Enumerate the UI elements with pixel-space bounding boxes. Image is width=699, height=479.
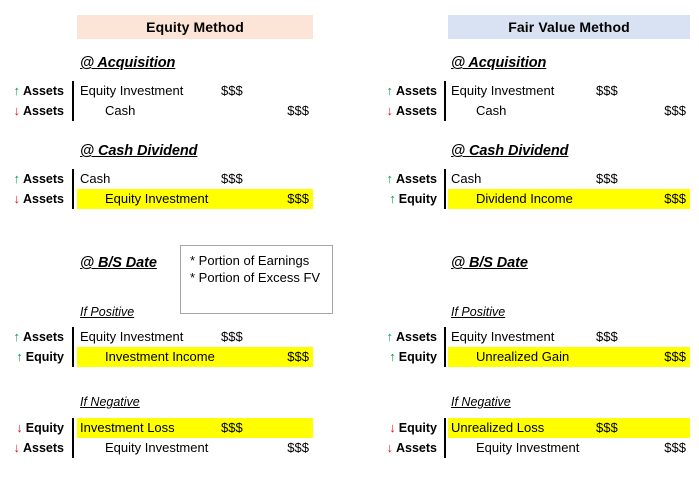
account-name: Investment Loss xyxy=(80,418,175,438)
entry-block-acquisition: ↑Assets Equity Investment $$$ ↓Assets Ca… xyxy=(0,81,349,121)
account-name: Equity Investment xyxy=(451,81,554,101)
entry-row: ↑Assets Equity Investment $$$ xyxy=(0,81,349,101)
arrow-up-icon: ↑ xyxy=(14,81,21,101)
side-label-text: Assets xyxy=(396,84,437,98)
entry-row: ↑Assets Equity Investment $$$ xyxy=(350,327,699,347)
side-label-text: Assets xyxy=(396,330,437,344)
entry-row: ↑Equity Dividend Income $$$ xyxy=(350,189,699,209)
arrow-up-icon: ↑ xyxy=(389,347,396,367)
side-label: ↓Assets xyxy=(0,438,68,458)
amount-credit: $$$ xyxy=(287,438,309,458)
entry-line: Equity Investment $$$ xyxy=(77,81,313,101)
amount-debit: $$$ xyxy=(596,81,618,101)
side-label-text: Assets xyxy=(23,330,64,344)
side-label: ↑Assets xyxy=(372,169,441,189)
column-equity-method: Equity Method @ Acquisition ↑Assets Equi… xyxy=(0,0,349,479)
arrow-up-icon: ↑ xyxy=(16,347,23,367)
entry-line: Equity Investment $$$ xyxy=(448,327,690,347)
side-label-text: Assets xyxy=(396,104,437,118)
equity-method-note-box: * Portion of Earnings * Portion of Exces… xyxy=(180,245,333,314)
entry-divider xyxy=(444,101,446,121)
side-label-text: Assets xyxy=(23,172,64,186)
entry-row: ↓Equity Unrealized Loss $$$ xyxy=(350,418,699,438)
arrow-down-icon: ↓ xyxy=(14,438,21,458)
arrow-down-icon: ↓ xyxy=(387,101,394,121)
side-label: ↑Assets xyxy=(372,81,441,101)
side-label: ↑Assets xyxy=(372,327,441,347)
entry-divider xyxy=(72,101,74,121)
entry-divider xyxy=(444,438,446,458)
account-name: Unrealized Loss xyxy=(451,418,544,438)
arrow-up-icon: ↑ xyxy=(387,81,394,101)
note-line: * Portion of Excess FV xyxy=(190,269,323,286)
amount-credit: $$$ xyxy=(287,189,309,209)
amount-credit: $$$ xyxy=(287,347,309,367)
arrow-up-icon: ↑ xyxy=(387,169,394,189)
arrow-down-icon: ↓ xyxy=(16,418,23,438)
amount-credit: $$$ xyxy=(287,101,309,121)
side-label-text: Assets xyxy=(396,441,437,455)
amount-debit: $$$ xyxy=(596,169,618,189)
account-name: Equity Investment xyxy=(105,438,208,458)
note-line: * Portion of Earnings xyxy=(190,252,323,269)
side-label-text: Assets xyxy=(23,441,64,455)
entry-divider xyxy=(72,418,74,438)
entry-block-bs-positive: ↑Assets Equity Investment $$$ ↑Equity In… xyxy=(0,327,349,367)
side-label: ↓Equity xyxy=(372,418,441,438)
entry-row: ↓Assets Cash $$$ xyxy=(350,101,699,121)
subheading-if-positive: If Positive xyxy=(80,305,134,319)
entry-block-bs-negative: ↓Equity Investment Loss $$$ ↓Assets Equi… xyxy=(0,418,349,458)
side-label: ↑Assets xyxy=(0,327,68,347)
entry-block-cash-dividend: ↑Assets Cash $$$ ↑Equity Dividend Income… xyxy=(350,169,699,209)
section-heading-cash-dividend: @ Cash Dividend xyxy=(80,143,197,159)
entry-block-bs-positive: ↑Assets Equity Investment $$$ ↑Equity Un… xyxy=(350,327,699,367)
entry-divider xyxy=(444,347,446,367)
arrow-down-icon: ↓ xyxy=(14,101,21,121)
entry-block-bs-negative: ↓Equity Unrealized Loss $$$ ↓Assets Equi… xyxy=(350,418,699,458)
entry-line: Equity Investment $$$ xyxy=(448,81,690,101)
account-name: Cash xyxy=(476,101,506,121)
amount-credit: $$$ xyxy=(664,101,686,121)
entry-line-highlighted: Unrealized Loss $$$ xyxy=(448,418,690,438)
amount-debit: $$$ xyxy=(221,327,243,347)
entry-row: ↓Assets Equity Investment $$$ xyxy=(0,438,349,458)
entry-divider xyxy=(444,418,446,438)
amount-credit: $$$ xyxy=(664,347,686,367)
side-label: ↓Assets xyxy=(0,189,68,209)
side-label: ↓Assets xyxy=(0,101,68,121)
entry-line-highlighted: Investment Loss $$$ xyxy=(77,418,313,438)
entry-divider xyxy=(444,327,446,347)
entry-line: Equity Investment $$$ xyxy=(77,438,313,458)
side-label: ↑Assets xyxy=(0,169,68,189)
arrow-up-icon: ↑ xyxy=(387,327,394,347)
arrow-up-icon: ↑ xyxy=(14,327,21,347)
side-label: ↓Equity xyxy=(0,418,68,438)
entry-row: ↑Assets Cash $$$ xyxy=(0,169,349,189)
account-name: Cash xyxy=(451,169,481,189)
side-label: ↑Equity xyxy=(0,347,68,367)
entry-line-highlighted: Dividend Income $$$ xyxy=(448,189,690,209)
account-name: Equity Investment xyxy=(80,327,183,347)
entry-row: ↑Equity Unrealized Gain $$$ xyxy=(350,347,699,367)
entry-divider xyxy=(72,327,74,347)
equity-method-header: Equity Method xyxy=(77,15,313,39)
side-label-text: Equity xyxy=(399,350,437,364)
arrow-up-icon: ↑ xyxy=(14,169,21,189)
account-name: Equity Investment xyxy=(476,438,579,458)
accounting-comparison-diagram: Equity Method @ Acquisition ↑Assets Equi… xyxy=(0,0,699,479)
account-name: Cash xyxy=(80,169,110,189)
account-name: Cash xyxy=(105,101,135,121)
section-heading-acquisition: @ Acquisition xyxy=(451,55,546,71)
entry-divider xyxy=(72,169,74,189)
entry-divider xyxy=(72,189,74,209)
entry-divider xyxy=(444,81,446,101)
entry-divider xyxy=(444,189,446,209)
column-fair-value-method: Fair Value Method @ Acquisition ↑Assets … xyxy=(350,0,699,479)
section-heading-cash-dividend: @ Cash Dividend xyxy=(451,143,568,159)
side-label: ↑Equity xyxy=(372,189,441,209)
entry-line: Cash $$$ xyxy=(77,101,313,121)
side-label-text: Assets xyxy=(396,172,437,186)
entry-line-highlighted: Investment Income $$$ xyxy=(77,347,313,367)
amount-debit: $$$ xyxy=(221,81,243,101)
side-label: ↓Assets xyxy=(372,101,441,121)
entry-row: ↓Assets Cash $$$ xyxy=(0,101,349,121)
entry-row: ↓Assets Equity Investment $$$ xyxy=(0,189,349,209)
entry-divider xyxy=(72,81,74,101)
account-name: Equity Investment xyxy=(80,81,183,101)
entry-line: Cash $$$ xyxy=(77,169,313,189)
arrow-down-icon: ↓ xyxy=(387,438,394,458)
section-heading-acquisition: @ Acquisition xyxy=(80,55,175,71)
entry-divider xyxy=(444,169,446,189)
amount-debit: $$$ xyxy=(221,169,243,189)
subheading-if-negative: If Negative xyxy=(80,395,140,409)
account-name: Unrealized Gain xyxy=(476,347,569,367)
side-label-text: Equity xyxy=(26,350,64,364)
section-heading-bs-date: @ B/S Date xyxy=(80,255,157,271)
entry-divider xyxy=(72,438,74,458)
fair-value-method-header: Fair Value Method xyxy=(448,15,690,39)
entry-line-highlighted: Equity Investment $$$ xyxy=(77,189,313,209)
amount-credit: $$$ xyxy=(664,189,686,209)
arrow-down-icon: ↓ xyxy=(14,189,21,209)
side-label: ↑Assets xyxy=(0,81,68,101)
amount-debit: $$$ xyxy=(596,327,618,347)
side-label: ↑Equity xyxy=(372,347,441,367)
entry-row: ↑Assets Equity Investment $$$ xyxy=(0,327,349,347)
account-name: Dividend Income xyxy=(476,189,573,209)
subheading-if-negative: If Negative xyxy=(451,395,511,409)
subheading-if-positive: If Positive xyxy=(451,305,505,319)
entry-line-highlighted: Unrealized Gain $$$ xyxy=(448,347,690,367)
entry-line: Equity Investment $$$ xyxy=(448,438,690,458)
account-name: Investment Income xyxy=(105,347,215,367)
entry-row: ↑Assets Cash $$$ xyxy=(350,169,699,189)
arrow-up-icon: ↑ xyxy=(389,189,396,209)
side-label-text: Equity xyxy=(26,421,64,435)
entry-row: ↑Equity Investment Income $$$ xyxy=(0,347,349,367)
section-heading-bs-date: @ B/S Date xyxy=(451,255,528,271)
side-label: ↓Assets xyxy=(372,438,441,458)
side-label-text: Assets xyxy=(23,104,64,118)
side-label-text: Assets xyxy=(23,84,64,98)
entry-line: Cash $$$ xyxy=(448,101,690,121)
account-name: Equity Investment xyxy=(105,189,208,209)
side-label-text: Equity xyxy=(399,421,437,435)
arrow-down-icon: ↓ xyxy=(389,418,396,438)
entry-row: ↑Assets Equity Investment $$$ xyxy=(350,81,699,101)
entry-block-acquisition: ↑Assets Equity Investment $$$ ↓Assets Ca… xyxy=(350,81,699,121)
account-name: Equity Investment xyxy=(451,327,554,347)
entry-row: ↓Assets Equity Investment $$$ xyxy=(350,438,699,458)
entry-line: Cash $$$ xyxy=(448,169,690,189)
entry-divider xyxy=(72,347,74,367)
amount-credit: $$$ xyxy=(664,438,686,458)
entry-row: ↓Equity Investment Loss $$$ xyxy=(0,418,349,438)
entry-block-cash-dividend: ↑Assets Cash $$$ ↓Assets Equity Investme… xyxy=(0,169,349,209)
amount-debit: $$$ xyxy=(596,418,618,438)
side-label-text: Assets xyxy=(23,192,64,206)
entry-line: Equity Investment $$$ xyxy=(77,327,313,347)
side-label-text: Equity xyxy=(399,192,437,206)
amount-debit: $$$ xyxy=(221,418,243,438)
